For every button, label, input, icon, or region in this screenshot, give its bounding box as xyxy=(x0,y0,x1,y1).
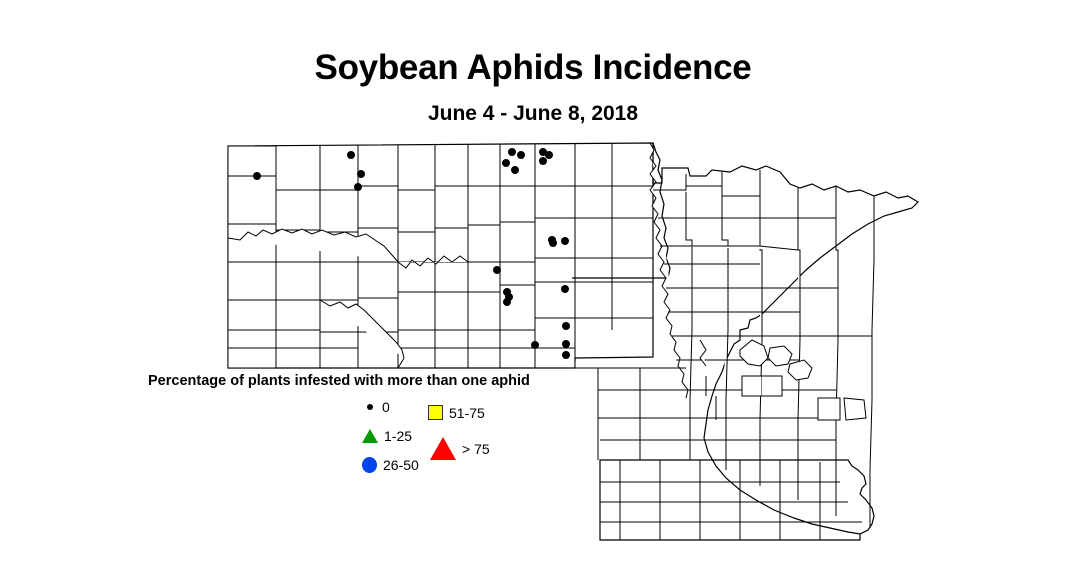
legend-item-26-50: 26-50 xyxy=(362,457,419,473)
site-dot xyxy=(561,285,569,293)
site-dot xyxy=(561,237,569,245)
legend-label-over-75: > 75 xyxy=(462,442,490,456)
legend-item-over-75: > 75 xyxy=(430,437,490,460)
site-dot xyxy=(357,170,365,178)
site-dot xyxy=(562,322,570,330)
blue-circle-icon xyxy=(362,457,377,473)
site-dot xyxy=(562,340,570,348)
legend-label-1-25: 1-25 xyxy=(384,429,412,443)
red-triangle-icon xyxy=(430,437,456,460)
legend-heading: Percentage of plants infested with more … xyxy=(148,374,530,389)
site-dot xyxy=(253,172,261,180)
soybean-aphid-incidence-map-page: Soybean Aphids Incidence June 4 - June 8… xyxy=(0,0,1066,587)
site-dot xyxy=(505,293,513,301)
legend-label-26-50: 26-50 xyxy=(383,458,419,472)
site-dot xyxy=(508,148,516,156)
site-dot xyxy=(493,266,501,274)
north-dakota-counties xyxy=(228,143,653,368)
legend-item-1-25: 1-25 xyxy=(362,429,412,443)
site-dot xyxy=(511,166,519,174)
site-dot xyxy=(347,151,355,159)
site-dot xyxy=(539,157,547,165)
legend-item-0: 0 xyxy=(362,400,390,414)
black-dot-icon xyxy=(367,404,373,410)
site-dot xyxy=(354,183,362,191)
green-triangle-icon xyxy=(362,429,378,443)
site-dot xyxy=(539,148,547,156)
yellow-square-icon xyxy=(428,405,443,420)
site-dot xyxy=(562,351,570,359)
site-dot-layer xyxy=(253,148,570,359)
site-dot xyxy=(549,239,557,247)
county-map-svg xyxy=(0,0,1066,587)
site-dot xyxy=(517,151,525,159)
map-container xyxy=(0,0,1066,587)
site-dot xyxy=(531,341,539,349)
legend-label-0: 0 xyxy=(382,400,390,414)
site-dot xyxy=(502,159,510,167)
legend-item-51-75: 51-75 xyxy=(428,405,485,420)
legend-label-51-75: 51-75 xyxy=(449,406,485,420)
minnesota-counties xyxy=(572,143,918,540)
